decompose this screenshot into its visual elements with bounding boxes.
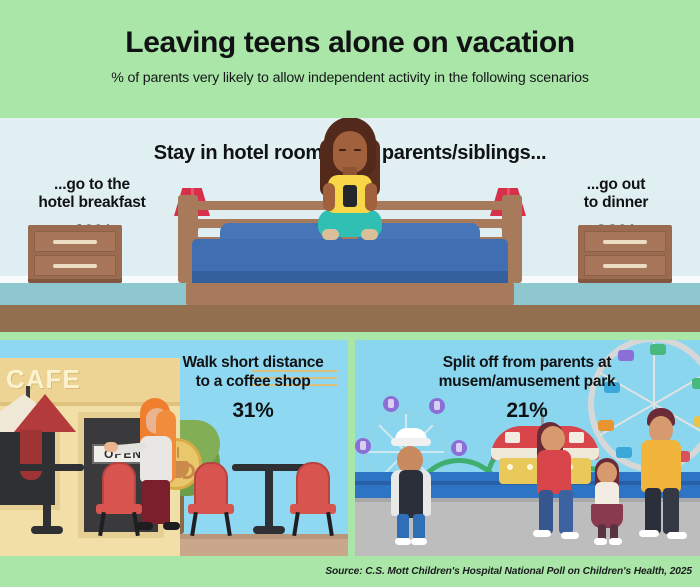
cafe-stat-value: 31% bbox=[160, 399, 346, 423]
cafe-stat: Walk short distance to a coffee shop 31% bbox=[160, 354, 346, 423]
park-stat-label: Split off from parents at musem/amusemen… bbox=[371, 354, 683, 391]
panel-hotel-room: Stay in hotel room while parents/sibling… bbox=[0, 118, 700, 332]
child-illustration bbox=[587, 454, 629, 546]
nightstand-right bbox=[578, 225, 672, 283]
stat-go-out-dinner-label: ...go out to dinner bbox=[546, 176, 686, 212]
source-citation: Source: C.S. Mott Children's Hospital Na… bbox=[325, 566, 700, 577]
cafe-table-left bbox=[10, 464, 72, 534]
teen-alone-illustration bbox=[383, 424, 439, 546]
teen-with-phone-illustration bbox=[302, 118, 398, 245]
park-stat-value: 21% bbox=[371, 399, 683, 423]
stat-hotel-breakfast-label: ...go to the hotel breakfast bbox=[8, 176, 176, 212]
nightstand-left bbox=[28, 225, 122, 283]
page-title: Leaving teens alone on vacation bbox=[125, 28, 574, 58]
cafe-chair-3 bbox=[290, 462, 336, 534]
cafe-chair-2 bbox=[188, 462, 234, 534]
infographic-root: Leaving teens alone on vacation % of par… bbox=[0, 0, 700, 587]
phone-icon bbox=[343, 185, 357, 207]
bed bbox=[178, 175, 522, 305]
panel-coffee-shop: CAFE OPEN bbox=[0, 340, 348, 556]
cafe-stat-label: Walk short distance to a coffee shop bbox=[160, 354, 346, 391]
mattress bbox=[192, 239, 508, 287]
hotel-floor-strip bbox=[0, 305, 700, 332]
park-stat: Split off from parents at musem/amusemen… bbox=[371, 354, 683, 423]
cafe-sign-text: CAFE bbox=[6, 364, 81, 395]
father-illustration bbox=[633, 406, 689, 546]
header: Leaving teens alone on vacation % of par… bbox=[0, 0, 700, 113]
mother-illustration bbox=[529, 414, 581, 546]
panel-amusement-park: Split off from parents at musem/amusemen… bbox=[355, 340, 700, 556]
bed-base bbox=[186, 283, 514, 305]
footer: Source: C.S. Mott Children's Hospital Na… bbox=[0, 556, 700, 587]
page-subtitle: % of parents very likely to allow indepe… bbox=[111, 71, 589, 85]
